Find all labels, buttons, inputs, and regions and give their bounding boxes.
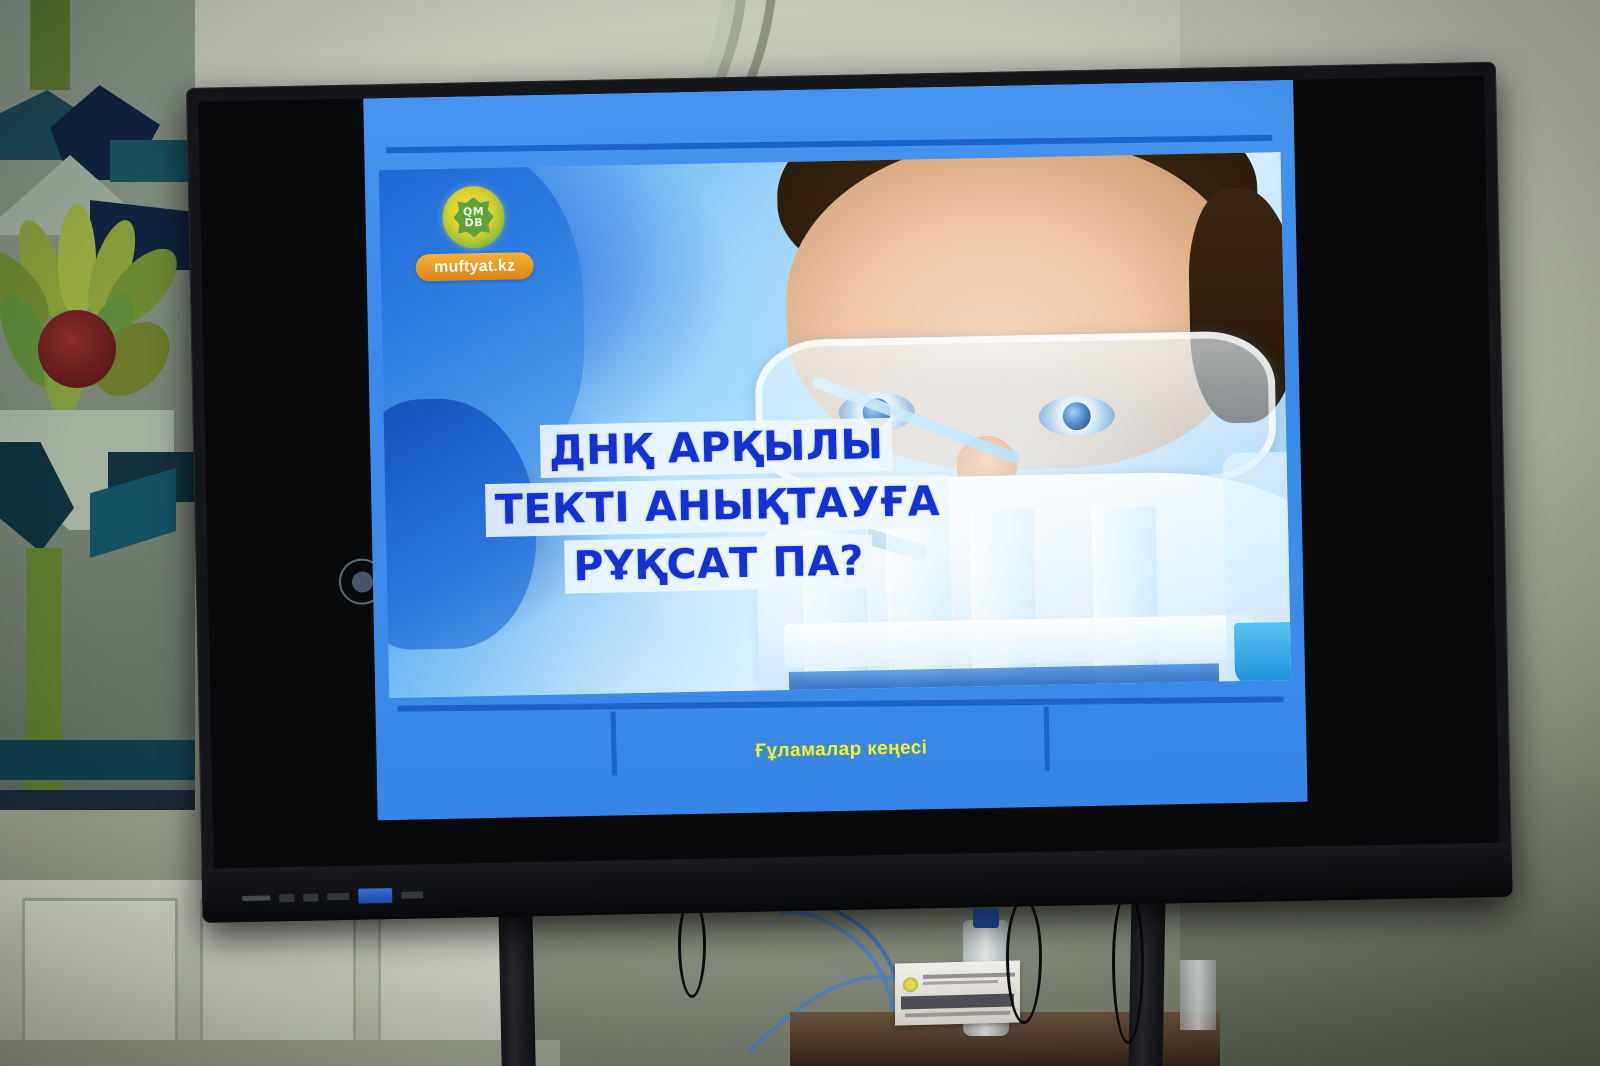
presentation-display[interactable]: QM DB muftyat.kz ДНҚ АРҚЫЛЫ ТЕКТІ АНЫҚТА… [186, 62, 1512, 923]
placard-logo-icon [903, 977, 918, 992]
stained-glass-window [0, 0, 195, 810]
drinking-glass [1180, 960, 1216, 1030]
qmdb-badge-icon: QM DB [442, 186, 505, 249]
slide-bottom-rule [397, 696, 1283, 711]
hdmi-port[interactable] [303, 893, 318, 901]
laboratory-photo: QM DB muftyat.kz ДНҚ АРҚЫЛЫ ТЕКТІ АНЫҚТА… [379, 152, 1291, 698]
slide-caption: Ғұламалар кеңесі [376, 730, 1306, 771]
flask-liquid [1234, 622, 1291, 685]
vga-port[interactable] [358, 888, 392, 904]
placard-subtitle-text [905, 1011, 1010, 1018]
muftyat-logo: QM DB muftyat.kz [414, 185, 534, 281]
wall-baseboard [0, 1040, 560, 1066]
test-tube-rack [784, 615, 1255, 668]
bottle-cap [973, 908, 999, 928]
power-port[interactable] [401, 891, 423, 898]
logo-url-pill: muftyat.kz [415, 252, 534, 281]
presentation-slide: QM DB muftyat.kz ДНҚ АРҚЫЛЫ ТЕКТІ АНЫҚТА… [363, 80, 1307, 821]
usb-port[interactable] [279, 893, 294, 901]
screenshot-stage: QM DB muftyat.kz ДНҚ АРҚЫЛЫ ТЕКТІ АНЫҚТА… [0, 0, 1600, 1066]
slide-title-line-2: ТЕКТІ АНЫҚТАУҒА [485, 475, 949, 537]
logo-url-label: muftyat.kz [434, 257, 515, 277]
display-brand-label [242, 895, 270, 901]
slide-title: ДНҚ АРҚЫЛЫ ТЕКТІ АНЫҚТАУҒА РҰҚСАТ ПА? [436, 416, 999, 601]
display-stand-leg-left [498, 905, 535, 1066]
placard-name-text [901, 994, 1014, 1010]
placard-org-line-2 [923, 980, 998, 985]
display-screen[interactable]: QM DB muftyat.kz ДНҚ АРҚЫЛЫ ТЕКТІ АНЫҚТА… [198, 76, 1499, 869]
slide-title-line-3: РҰҚСАТ ПА? [564, 534, 873, 593]
badge-text-bottom: DB [464, 218, 483, 228]
audio-port[interactable] [327, 893, 349, 900]
slide-top-rule [386, 135, 1272, 153]
placard-org-line-1 [923, 972, 1015, 978]
name-placard [895, 960, 1020, 1025]
display-port-row[interactable] [242, 887, 423, 906]
slide-title-line-1: ДНҚ АРҚЫЛЫ [540, 418, 893, 478]
